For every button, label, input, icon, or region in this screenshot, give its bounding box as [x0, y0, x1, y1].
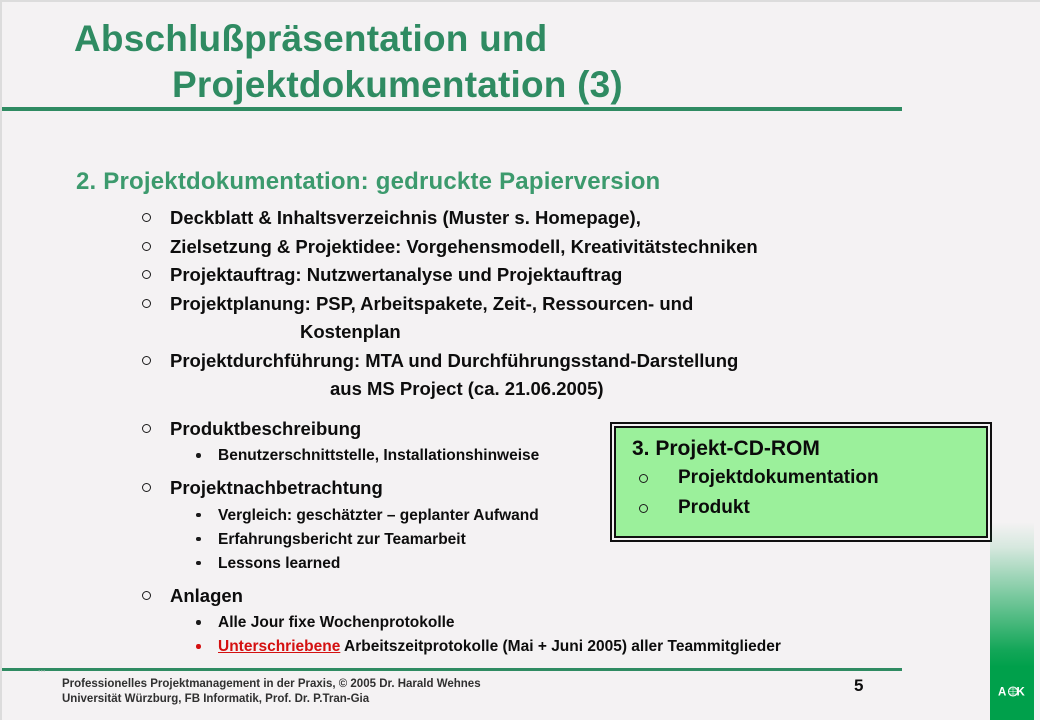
list-item-label: Zielsetzung & Projektidee: Vorgehensmode…	[170, 236, 758, 257]
sub-list-item-label: Lessons learned	[218, 555, 340, 572]
sub-list-item-label: Vergleich: geschätzter – geplanter Aufwa…	[218, 507, 539, 524]
footer-divider	[2, 668, 902, 671]
title-line-2: Projektdokumentation (3)	[62, 62, 902, 108]
cd-box-item-label: Projektdokumentation	[678, 467, 879, 488]
bullet-circle-icon	[142, 483, 151, 492]
bullet-circle-icon	[142, 213, 151, 222]
cd-rom-callout-box: 3. Projekt-CD-ROM Projektdokumentation P…	[614, 426, 988, 538]
sub-list-item-label: Erfahrungsbericht zur Teamarbeit	[218, 531, 466, 548]
list-item: Anlagen	[140, 583, 900, 609]
footer-credits: Professionelles Projektmanagement in der…	[62, 677, 481, 707]
aok-logo-icon: A K	[998, 678, 1028, 704]
brand-gradient-strip	[990, 2, 1034, 720]
sub-list-item-label: Benutzerschnittstelle, Installationshinw…	[218, 447, 539, 464]
svg-text:A: A	[998, 687, 1006, 699]
sub-list-item: Alle Jour fixe Wochenprotokolle	[140, 611, 900, 634]
bullet-circle-icon	[639, 504, 648, 513]
sub-list-item: Lessons learned	[140, 552, 900, 575]
sub-list-item-highlighted: Unterschriebene Arbeitszeitprotokolle (M…	[140, 635, 900, 658]
bullet-circle-icon	[639, 474, 648, 483]
bullet-dot-icon	[196, 644, 201, 649]
list-item-label: Deckblatt & Inhaltsverzeichnis (Muster s…	[170, 207, 641, 228]
bullet-dot-icon	[196, 513, 201, 518]
list-item-continuation: aus MS Project (ca. 21.06.2005)	[140, 376, 900, 402]
bullet-circle-icon	[142, 591, 151, 600]
title-line-1: Abschlußpräsentation und	[62, 16, 902, 62]
list-item-continuation: Kostenplan	[140, 319, 900, 345]
cd-box-item: Projektdokumentation	[632, 463, 986, 493]
bullet-dot-icon	[196, 537, 201, 542]
page-number: 5	[854, 676, 863, 696]
list-item: Projektauftrag: Nutzwertanalyse und Proj…	[140, 262, 900, 288]
section-heading: 2. Projektdokumentation: gedruckte Papie…	[76, 168, 660, 196]
footer-watermark: ...	[38, 664, 46, 674]
bullet-circle-icon	[142, 356, 151, 365]
highlighted-term: Unterschriebene	[218, 638, 340, 655]
list-item-label: Projektplanung: PSP, Arbeitspakete, Zeit…	[170, 293, 693, 314]
bullet-circle-icon	[142, 424, 151, 433]
cd-box-title: 3. Projekt-CD-ROM	[632, 435, 986, 463]
sub-list-item-label: Alle Jour fixe Wochenprotokolle	[218, 614, 455, 631]
bullet-dot-icon	[196, 453, 201, 458]
sub-list-item-label: Arbeitszeitprotokolle (Mai + Juni 2005) …	[340, 638, 781, 655]
header-divider	[2, 107, 902, 111]
footer-credit-line-2: Universität Würzburg, FB Informatik, Pro…	[62, 692, 481, 707]
bullet-circle-icon	[142, 270, 151, 279]
list-item-label: Projektdurchführung: MTA und Durchführun…	[170, 350, 738, 371]
presentation-slide: Abschlußpräsentation und Projektdokument…	[0, 0, 1040, 720]
cd-box-item-label: Produkt	[678, 497, 750, 518]
footer-credit-line-1: Professionelles Projektmanagement in der…	[62, 677, 481, 692]
list-item-label: Projektauftrag: Nutzwertanalyse und Proj…	[170, 264, 622, 285]
list-item-label: Projektnachbetrachtung	[170, 477, 383, 498]
bullet-circle-icon	[142, 242, 151, 251]
list-item-label: Produktbeschreibung	[170, 418, 361, 439]
list-item: Deckblatt & Inhaltsverzeichnis (Muster s…	[140, 205, 900, 231]
list-item: Projektplanung: PSP, Arbeitspakete, Zeit…	[140, 291, 900, 317]
list-item: Zielsetzung & Projektidee: Vorgehensmode…	[140, 234, 900, 260]
bullet-circle-icon	[142, 299, 151, 308]
page-title: Abschlußpräsentation und Projektdokument…	[62, 16, 902, 108]
list-item: Projektdurchführung: MTA und Durchführun…	[140, 348, 900, 374]
list-item-label: Anlagen	[170, 585, 243, 606]
bullet-dot-icon	[196, 561, 201, 566]
cd-box-item: Produkt	[632, 493, 986, 523]
bullet-dot-icon	[196, 620, 201, 625]
